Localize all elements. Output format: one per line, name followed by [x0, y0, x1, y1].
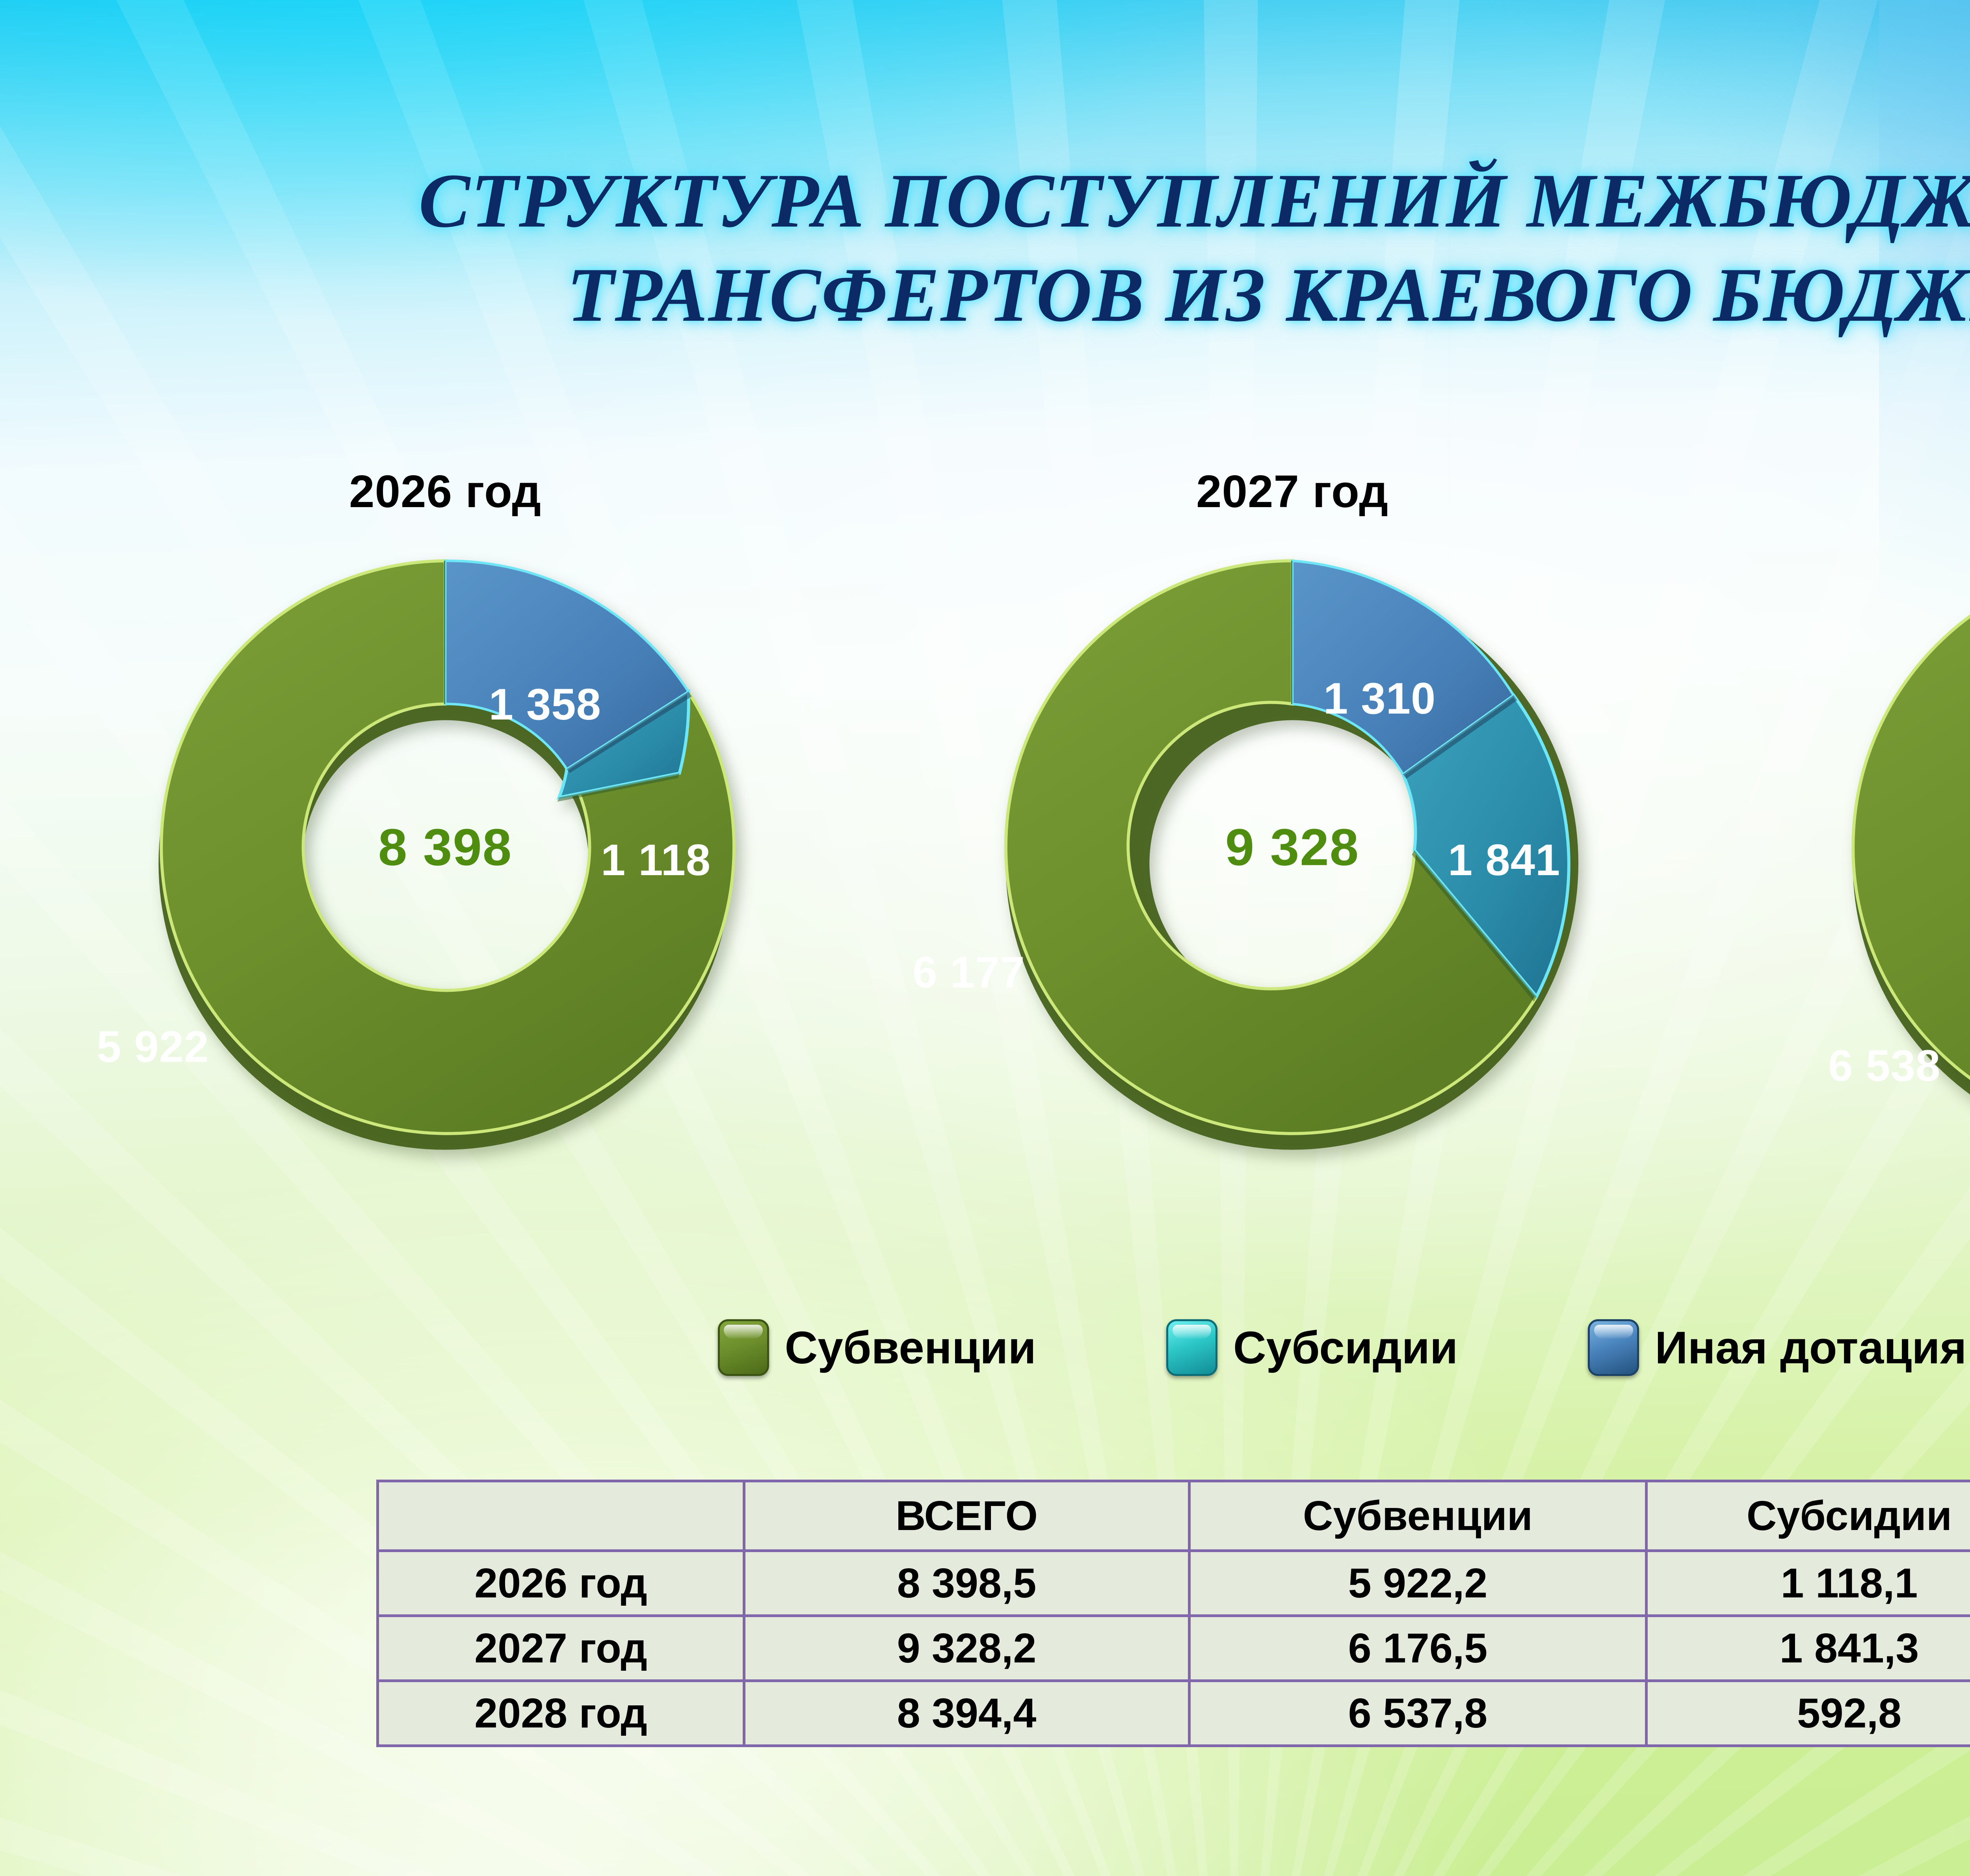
table-row: 2028 год 8 394,4 6 537,8 592,8 1 263,8 — [378, 1681, 1970, 1746]
donut-label-other-grant-2027: 1 310 — [1323, 673, 1436, 724]
legend-label-subsidies: Субсидии — [1233, 1321, 1458, 1374]
table-cell-year: 2027 год — [378, 1616, 744, 1681]
legend-item-subventions: Субвенции — [718, 1319, 1036, 1376]
table-header-corner — [378, 1481, 744, 1551]
table-header-total: ВСЕГО — [744, 1481, 1189, 1551]
chart-legend: Субвенции Субсидии Иная дотация — [0, 1296, 1970, 1399]
table-cell-subsidies: 592,8 — [1647, 1681, 1970, 1746]
legend-label-other-grant: Иная дотация — [1655, 1321, 1966, 1374]
table-cell-total: 9 328,2 — [744, 1616, 1189, 1681]
legend-label-subventions: Субвенции — [785, 1321, 1036, 1374]
charts-row: 2026 год — [0, 465, 1970, 1273]
legend-swatch-other-grant-icon — [1588, 1319, 1639, 1376]
title-line-2: ТРАНСФЕРТОВ ИЗ КРАЕВОГО БЮДЖЕТА — [0, 248, 1970, 342]
summary-table: ВСЕГО Субвенции Субсидии Иная дотация 20… — [376, 1480, 1970, 1747]
legend-item-subsidies: Субсидии — [1166, 1319, 1458, 1376]
donut-label-subventions-2027: 6 177 — [913, 947, 1025, 998]
donut-label-subventions-2028: 6 538 — [1828, 1040, 1940, 1091]
donut-2026: 8 398 1 358 1 118 5 922 — [134, 536, 756, 1158]
page-title: СТРУКТУРА ПОСТУПЛЕНИЙ МЕЖБЮДЖЕТНЫХ ТРАНС… — [0, 154, 1970, 342]
legend-item-other-grant: Иная дотация — [1588, 1319, 1966, 1376]
table-cell-subventions: 5 922,2 — [1189, 1551, 1647, 1616]
table-cell-subsidies: 1 118,1 — [1647, 1551, 1970, 1616]
donut-chart-2027: 2027 год — [918, 465, 1667, 1265]
chart-year-label-2028: 2028 год — [1765, 465, 1970, 518]
table-cell-total: 8 398,5 — [744, 1551, 1189, 1616]
donut-label-subsidies-2027: 1 841 — [1448, 835, 1560, 885]
table-row: 2026 год 8 398,5 5 922,2 1 118,1 1 358,2 — [378, 1551, 1970, 1616]
donut-label-other-grant-2026: 1 358 — [489, 679, 601, 730]
legend-swatch-subventions-icon — [718, 1319, 769, 1376]
table-cell-subventions: 6 537,8 — [1189, 1681, 1647, 1746]
table-cell-total: 8 394,4 — [744, 1681, 1189, 1746]
donut-center-value-2028: 8 394 — [1828, 818, 1970, 877]
legend-swatch-subsidies-icon — [1166, 1319, 1217, 1376]
chart-year-label-2027: 2027 год — [918, 465, 1667, 518]
donut-label-subventions-2026: 5 922 — [97, 1021, 209, 1072]
donut-chart-2028: 2028 год — [1765, 465, 1970, 1265]
table-cell-subventions: 6 176,5 — [1189, 1616, 1647, 1681]
table-cell-subsidies: 1 841,3 — [1647, 1616, 1970, 1681]
table-cell-year: 2028 год — [378, 1681, 744, 1746]
donut-label-subsidies-2026: 1 118 — [601, 835, 711, 885]
table-header-subventions: Субвенции — [1189, 1481, 1647, 1551]
donut-chart-2026: 2026 год — [71, 465, 820, 1265]
table-header-subsidies: Субсидии — [1647, 1481, 1970, 1551]
table-row: 2027 год 9 328,2 6 176,5 1 841,3 1 310,4 — [378, 1616, 1970, 1681]
title-line-1: СТРУКТУРА ПОСТУПЛЕНИЙ МЕЖБЮДЖЕТНЫХ — [0, 154, 1970, 248]
chart-year-label-2026: 2026 год — [71, 465, 820, 518]
table-cell-year: 2026 год — [378, 1551, 744, 1616]
table-header-row: ВСЕГО Субвенции Субсидии Иная дотация — [378, 1481, 1970, 1551]
donut-2028: 8 394 1 264 592 6 538 — [1828, 536, 1970, 1158]
donut-2027: 9 328 1 310 1 841 6 177 — [981, 536, 1604, 1158]
